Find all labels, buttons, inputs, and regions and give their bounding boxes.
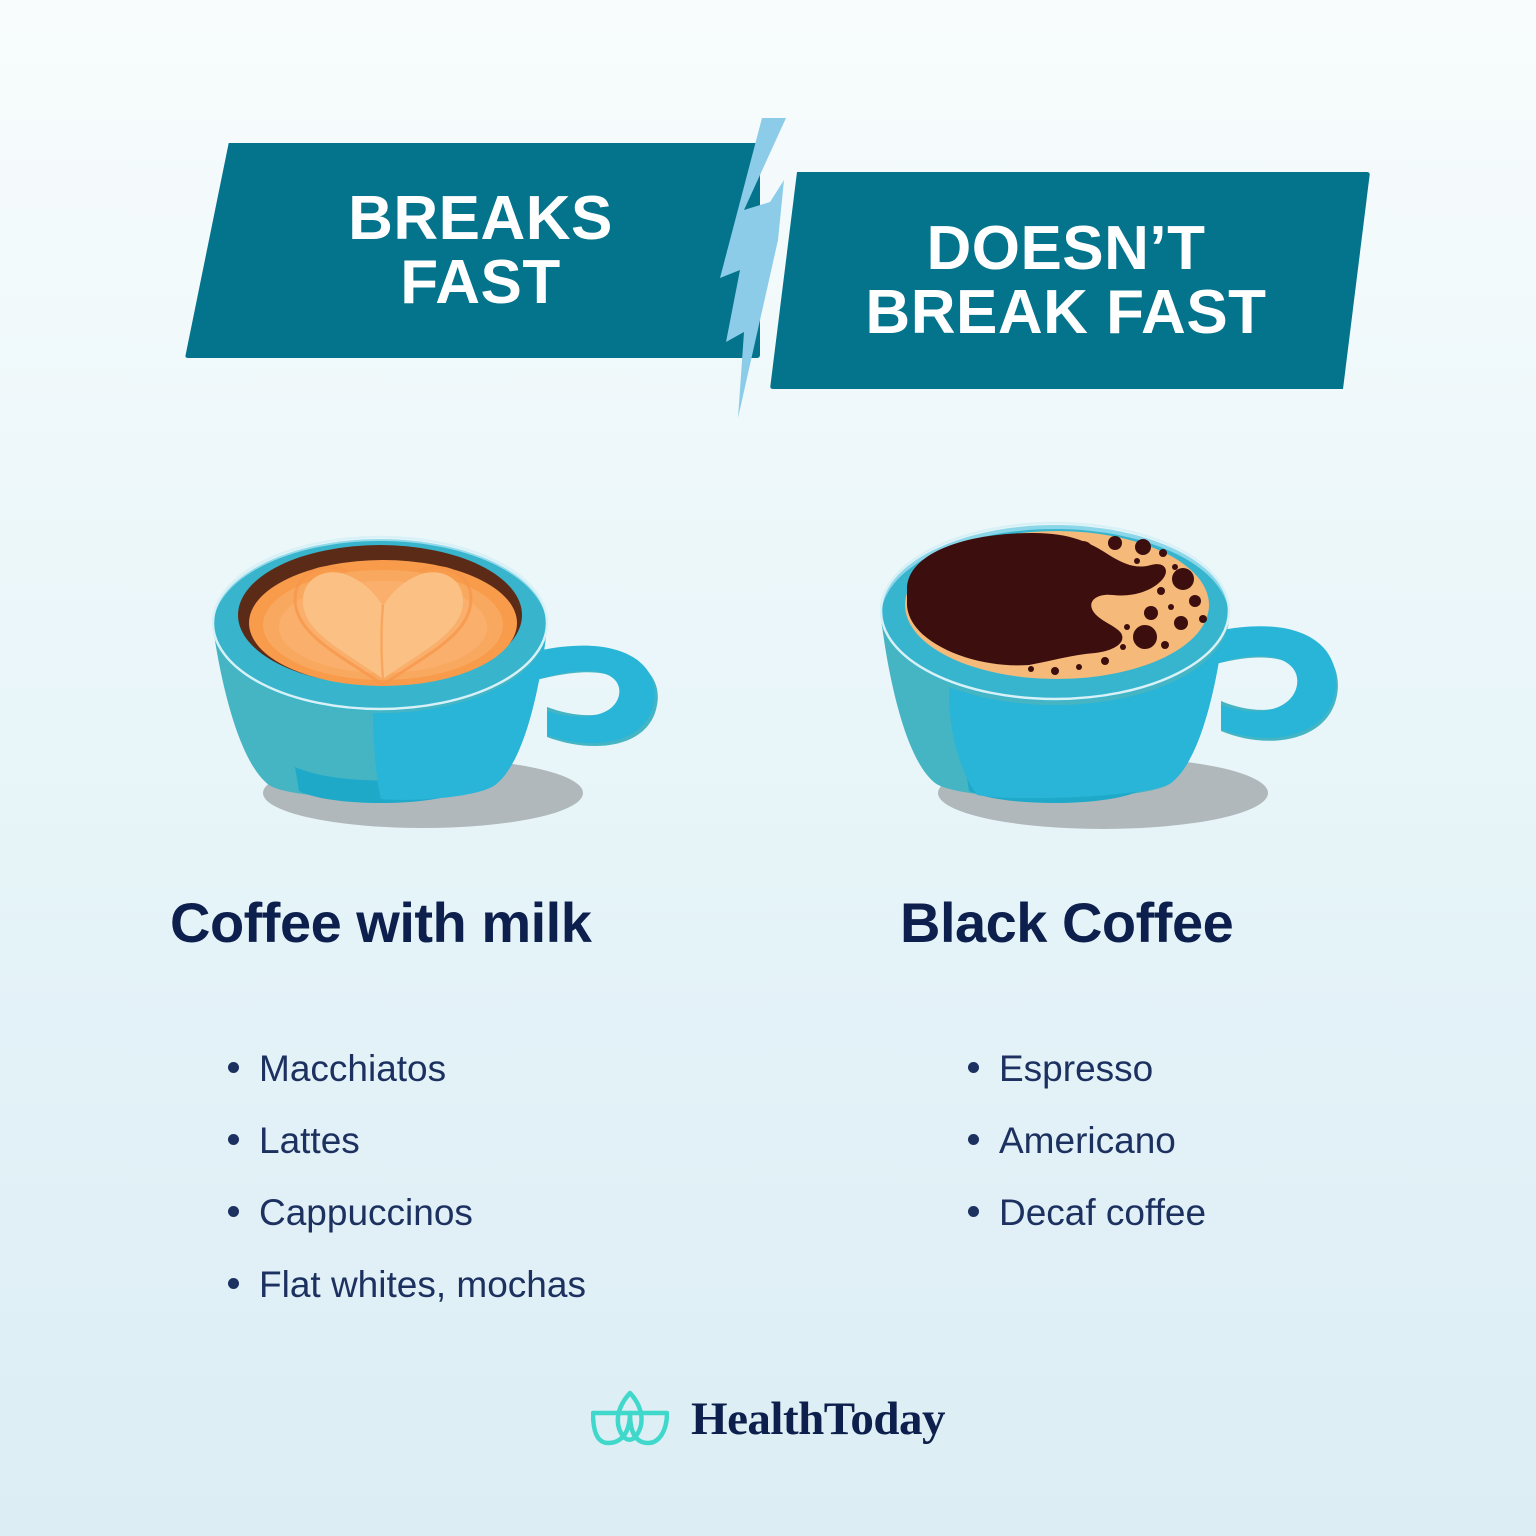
heading-black-coffee: Black Coffee xyxy=(900,890,1233,955)
list-item: Cappuccinos xyxy=(228,1192,586,1234)
bullet-icon xyxy=(228,1206,239,1217)
list-item: Espresso xyxy=(968,1048,1206,1090)
bullet-icon xyxy=(968,1062,979,1073)
bullet-icon xyxy=(228,1278,239,1289)
list-black-coffee: Espresso Americano Decaf coffee xyxy=(968,1048,1206,1264)
banner-breaks-fast-text: BREAKS FAST xyxy=(348,187,613,313)
list-item-label: Cappuccinos xyxy=(259,1192,473,1234)
banner-doesnt-break-fast-line2: BREAK FAST xyxy=(865,281,1266,344)
list-item-label: Americano xyxy=(999,1120,1176,1162)
list-item: Macchiatos xyxy=(228,1048,586,1090)
list-item: Lattes xyxy=(228,1120,586,1162)
list-item-label: Lattes xyxy=(259,1120,360,1162)
banner-doesnt-break-fast-text: DOESN’T BREAK FAST xyxy=(865,217,1266,343)
banner-breaks-fast-line1: BREAKS xyxy=(348,187,613,250)
bullet-icon xyxy=(968,1206,979,1217)
brand-name: HealthToday xyxy=(691,1392,945,1446)
headings-row: Coffee with milk Black Coffee xyxy=(0,890,1536,980)
list-item-label: Decaf coffee xyxy=(999,1192,1206,1234)
list-item-label: Espresso xyxy=(999,1048,1153,1090)
list-item-label: Macchiatos xyxy=(259,1048,446,1090)
list-item: Americano xyxy=(968,1120,1206,1162)
bullet-icon xyxy=(228,1134,239,1145)
banner-row: BREAKS FAST DOESN’T BREAK FAST xyxy=(0,0,1536,430)
black-coffee-cup-icon xyxy=(865,455,1345,860)
footer-branding: HealthToday xyxy=(0,1390,1536,1448)
illustrations-row xyxy=(0,455,1536,875)
bullet-icon xyxy=(228,1062,239,1073)
list-item: Flat whites, mochas xyxy=(228,1264,586,1306)
list-item-label: Flat whites, mochas xyxy=(259,1264,586,1306)
list-item: Decaf coffee xyxy=(968,1192,1206,1234)
lotus-icon xyxy=(591,1390,669,1448)
heading-coffee-with-milk: Coffee with milk xyxy=(170,890,591,955)
banner-breaks-fast: BREAKS FAST xyxy=(185,143,760,358)
bullet-icon xyxy=(968,1134,979,1145)
banner-doesnt-break-fast-line1: DOESN’T xyxy=(865,217,1266,280)
latte-cup-icon xyxy=(195,455,665,860)
banner-breaks-fast-line2: FAST xyxy=(348,251,613,314)
list-coffee-with-milk: Macchiatos Lattes Cappuccinos Flat white… xyxy=(228,1048,586,1336)
banner-doesnt-break-fast: DOESN’T BREAK FAST xyxy=(770,172,1370,389)
